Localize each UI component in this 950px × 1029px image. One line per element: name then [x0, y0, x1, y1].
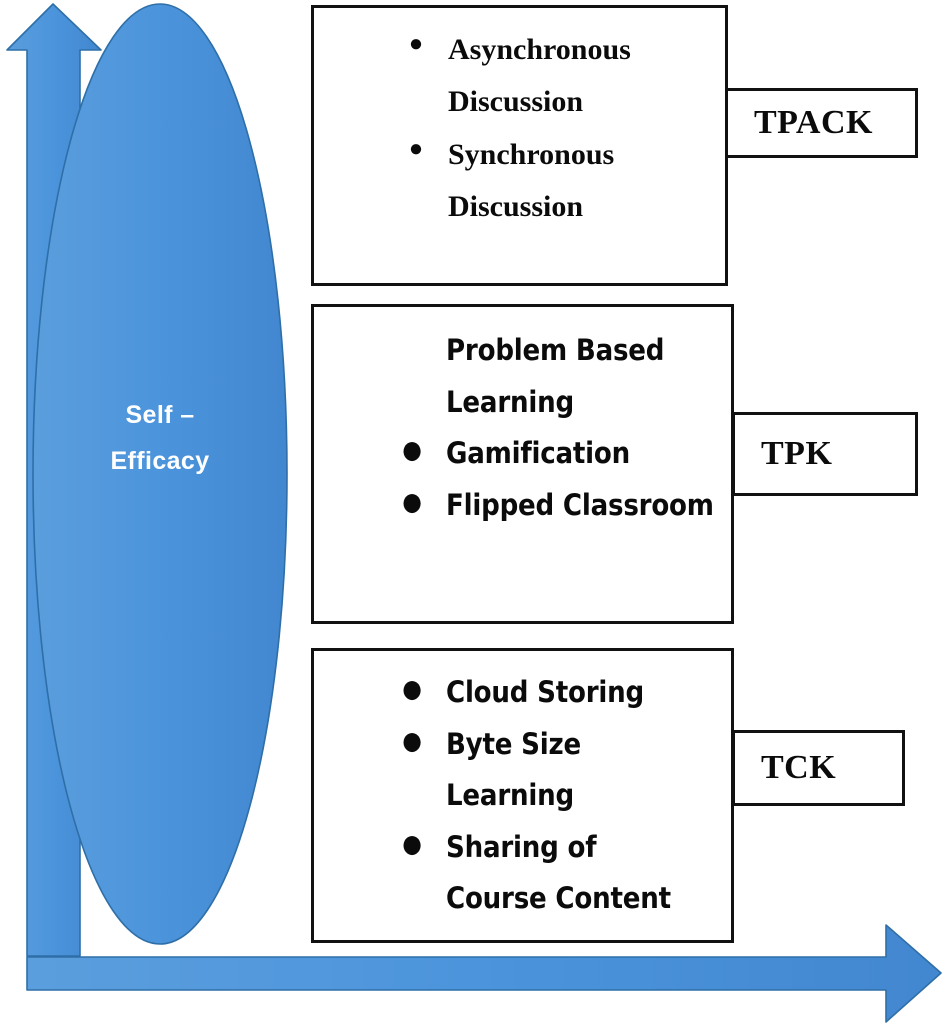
- tpk-item-list: Problem Based Learning ● Gamification ● …: [390, 325, 720, 531]
- list-item-label: Synchronous Discussion: [448, 129, 726, 232]
- content-box-tpk: Problem Based Learning ● Gamification ● …: [311, 304, 734, 624]
- list-item: ● Flipped Classroom: [390, 480, 720, 532]
- tag-box-tck: TCK: [732, 730, 905, 806]
- list-item-label: Gamification: [446, 428, 720, 480]
- list-item-word-left: Sharing: [446, 830, 559, 864]
- list-item-label: Flipped Classroom: [446, 480, 720, 532]
- tag-box-tpack: TPACK: [725, 88, 918, 158]
- list-item: ● Sharing of Course Content: [390, 822, 726, 925]
- list-item: ● Gamification: [390, 428, 720, 480]
- bullet-icon: ●: [400, 719, 424, 764]
- tag-label: TPK: [735, 435, 832, 473]
- list-item-word-right: of: [568, 830, 597, 864]
- content-box-tpack: ● Asynchronous Discussion ● Synchronous …: [311, 5, 728, 286]
- list-item-label: Sharing of: [446, 822, 726, 874]
- tpack-item-list: ● Asynchronous Discussion ● Synchronous …: [396, 24, 726, 234]
- diagram-canvas: Self – Efficacy ● Asynchronous Discussio…: [0, 0, 950, 1029]
- list-item: ● Cloud Storing: [390, 667, 726, 719]
- ellipse-shape: [33, 4, 287, 944]
- list-item: ● Byte Size Learning: [390, 719, 726, 822]
- list-item-label: Byte Size: [446, 719, 726, 771]
- bullet-icon: ●: [404, 24, 428, 65]
- bullet-icon: ●: [404, 129, 428, 170]
- list-item-word-right: Size: [521, 727, 581, 761]
- list-item-label: Cloud Storing: [446, 667, 726, 719]
- list-item: ● Synchronous Discussion: [396, 129, 726, 232]
- list-item: Problem Based Learning: [390, 325, 720, 428]
- tag-box-tpk: TPK: [732, 412, 918, 496]
- list-item-label: Problem Based Learning: [446, 325, 720, 428]
- bullet-icon: ●: [400, 480, 424, 525]
- list-item-label-wrap: Course Content: [446, 873, 726, 925]
- tck-item-list: ● Cloud Storing ● Byte Size Learning ● S…: [390, 667, 726, 925]
- bullet-icon: ●: [400, 667, 424, 712]
- content-box-tck: ● Cloud Storing ● Byte Size Learning ● S…: [311, 648, 734, 943]
- tag-label: TCK: [735, 749, 836, 787]
- tag-label: TPACK: [728, 104, 873, 142]
- bullet-icon: ●: [400, 822, 424, 867]
- bullet-icon: ●: [400, 428, 424, 473]
- list-item-label: Asynchronous Discussion: [448, 24, 726, 127]
- list-item: ● Asynchronous Discussion: [396, 24, 726, 127]
- list-item-word-left: Byte: [446, 727, 512, 761]
- list-item-label-wrap: Learning: [446, 770, 726, 822]
